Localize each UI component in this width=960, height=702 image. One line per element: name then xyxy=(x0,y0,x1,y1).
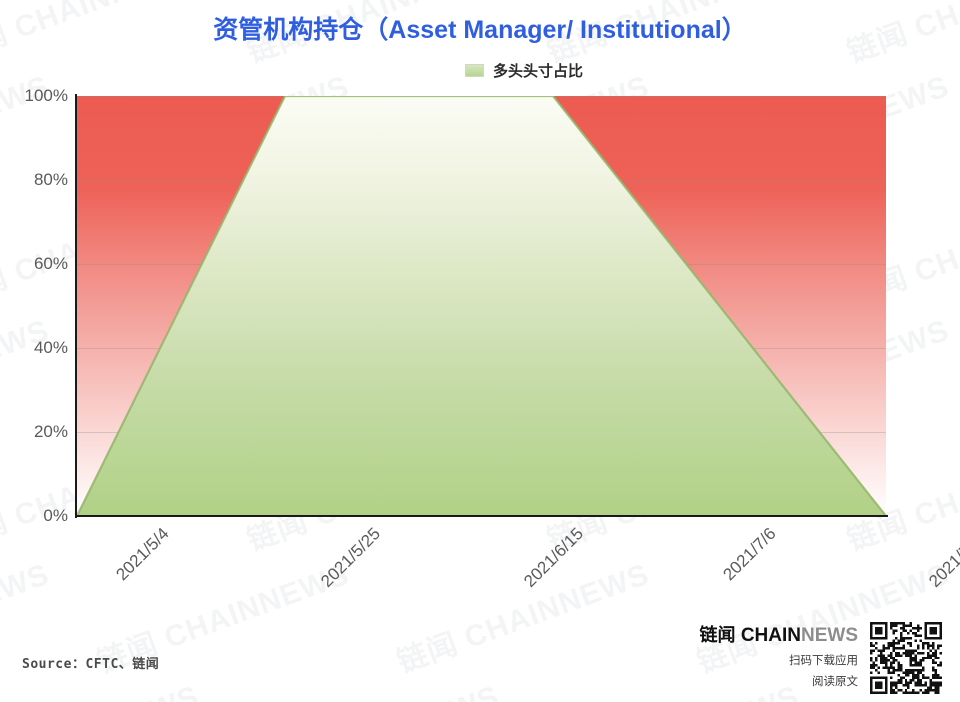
brand-name-cn: 链闻 xyxy=(700,625,736,645)
qr-code[interactable] xyxy=(870,622,942,694)
brand-name-en-primary: CHAIN xyxy=(741,625,801,646)
x-axis: 2021/5/4 2021/5/25 2021/6/15 2021/7/6 20… xyxy=(0,0,960,702)
x-axis-tick-label: 2021/7/27 xyxy=(925,524,960,592)
qr-modules xyxy=(870,622,942,694)
x-axis-tick-label: 2021/5/4 xyxy=(112,524,173,585)
brand-name-en-secondary: NEWS xyxy=(801,625,858,646)
brand-block: 链闻 CHAINNEWS 扫码下载应用 阅读原文 xyxy=(700,626,858,689)
x-axis-tick-label: 2021/6/15 xyxy=(520,524,588,592)
brand-logo-text: 链闻 CHAINNEWS xyxy=(700,626,858,647)
brand-subline-download: 扫码下载应用 xyxy=(700,652,858,668)
x-axis-tick-label: 2021/7/6 xyxy=(719,524,780,585)
x-axis-tick-label: 2021/5/25 xyxy=(317,524,385,592)
brand-subline-read-original: 阅读原文 xyxy=(700,673,858,689)
source-note: Source：CFTC、链闻 xyxy=(22,653,159,672)
